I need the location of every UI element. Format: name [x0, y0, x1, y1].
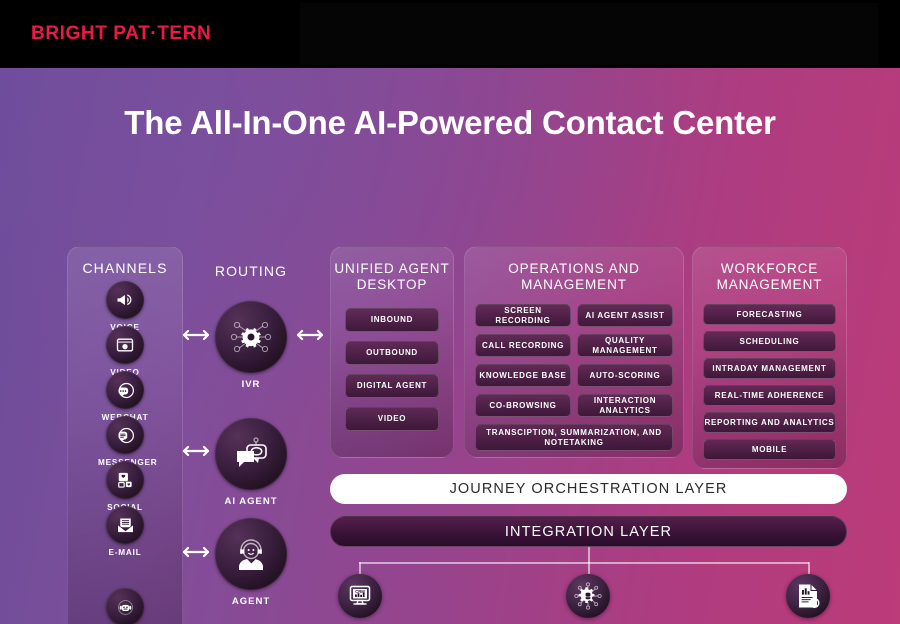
integration-layer-bar[interactable]: INTEGRATION LAYER	[330, 516, 847, 547]
routing-title: ROUTING	[190, 263, 312, 279]
wfm-title: WORKFORCE MANAGEMENT	[693, 247, 846, 292]
channel-item-social[interactable]: SOCIAL	[98, 461, 152, 512]
gradient-stage: The All-In-One AI-Powered Contact Center…	[0, 68, 900, 624]
header-right-panel	[300, 3, 878, 65]
ops-item-transcription[interactable]: TRANSCIPTION, SUMMARIZATION, AND NOTETAK…	[475, 424, 673, 451]
ops-item-grid: SCREEN RECORDING AI AGENT ASSIST CALL RE…	[465, 292, 683, 451]
journey-orchestration-layer-bar[interactable]: JOURNEY ORCHESTRATION LAYER	[330, 474, 847, 504]
gear-network-icon	[215, 301, 287, 373]
custom-data-document-icon	[786, 574, 830, 618]
integration-item-custom-data[interactable]: CUSTOM DATA	[753, 574, 863, 624]
uad-item[interactable]: VIDEO	[345, 407, 439, 431]
wfm-item[interactable]: MOBILE	[703, 439, 836, 460]
top-header-bar: BRIGHT PAT·TERN	[0, 0, 900, 68]
robot-headset-icon	[106, 588, 144, 624]
uad-item[interactable]: OUTBOUND	[345, 341, 439, 365]
panel-unified-agent-desktop: UNIFIED AGENT DESKTOP INBOUND OUTBOUND D…	[330, 246, 454, 458]
wfm-item[interactable]: REPORTING AND ANALYTICS	[703, 412, 836, 433]
integration-item-ucaas[interactable]: UCaaS	[533, 574, 643, 624]
arrow-channels-to-agent	[183, 545, 209, 559]
webcam-icon	[106, 326, 144, 364]
ops-title: OPERATIONS AND MANAGEMENT	[465, 247, 683, 292]
routing-item-ai-agent[interactable]: AI AGENT	[215, 418, 287, 507]
ops-item[interactable]: QUALITY MANAGEMENT	[577, 334, 673, 357]
ops-item[interactable]: AI AGENT ASSIST	[577, 304, 673, 327]
routing-item-agent[interactable]: AGENT	[215, 518, 287, 607]
envelope-icon	[106, 506, 144, 544]
connector-vertical-center-top	[588, 547, 590, 563]
ops-item[interactable]: INTERACTION ANALYTICS	[577, 394, 673, 417]
channel-item-ai-agent[interactable]: AI AGENT	[98, 588, 152, 624]
crm-monitor-icon: CRM	[338, 574, 382, 618]
panel-workforce-management: WORKFORCE MANAGEMENT FORECASTING SCHEDUL…	[692, 246, 847, 469]
channels-title: CHANNELS	[68, 247, 182, 277]
infographic-page: BRIGHT PAT·TERN The All-In-One AI-Powere…	[0, 0, 900, 624]
routing-label: IVR	[215, 379, 287, 390]
channel-item-email[interactable]: E-MAIL	[98, 506, 152, 557]
channel-item-webchat[interactable]: WEBCHAT	[98, 371, 152, 422]
chat-bubble-dots-icon	[106, 371, 144, 409]
routing-label: AGENT	[215, 596, 287, 607]
wfm-item-list: FORECASTING SCHEDULING INTRADAY MANAGEME…	[693, 292, 846, 460]
uad-item-list: INBOUND OUTBOUND DIGITAL AGENT VIDEO	[331, 292, 453, 431]
bot-chat-icon	[215, 418, 287, 490]
uad-title: UNIFIED AGENT DESKTOP	[331, 247, 453, 292]
routing-item-ivr[interactable]: IVR	[215, 301, 287, 390]
chat-bubble-lines-icon	[106, 416, 144, 454]
wfm-item[interactable]: REAL-TIME ADHERENCE	[703, 385, 836, 406]
brand-logo: BRIGHT PAT·TERN	[31, 23, 211, 45]
connector-horizontal	[359, 562, 809, 564]
channel-item-messenger[interactable]: MESSENGER	[98, 416, 152, 467]
ops-item[interactable]: AUTO-SCORING	[577, 364, 673, 387]
integration-item-crm[interactable]: CRM CRM	[305, 574, 415, 624]
ucaas-network-icon	[566, 574, 610, 618]
channel-label: E-MAIL	[98, 548, 152, 557]
ops-item[interactable]: CALL RECORDING	[475, 334, 571, 357]
megaphone-icon	[106, 281, 144, 319]
social-hearts-icon	[106, 461, 144, 499]
channel-item-video[interactable]: VIDEO	[98, 326, 152, 377]
uad-item[interactable]: DIGITAL AGENT	[345, 374, 439, 398]
arrow-channels-to-ivr	[183, 328, 209, 342]
ops-item[interactable]: KNOWLEDGE BASE	[475, 364, 571, 387]
routing-label: AI AGENT	[215, 496, 287, 507]
ops-item[interactable]: CO-BROWSING	[475, 394, 571, 417]
agent-person-icon	[215, 518, 287, 590]
uad-item[interactable]: INBOUND	[345, 308, 439, 332]
arrow-channels-to-ai-agent	[183, 444, 209, 458]
wfm-item[interactable]: FORECASTING	[703, 304, 836, 325]
integration-icons-row: CRM CRM	[330, 570, 847, 624]
ops-item[interactable]: SCREEN RECORDING	[475, 304, 571, 327]
wfm-item[interactable]: INTRADAY MANAGEMENT	[703, 358, 836, 379]
channel-item-voice[interactable]: VOICE	[98, 281, 152, 332]
panel-operations-management: OPERATIONS AND MANAGEMENT SCREEN RECORDI…	[464, 246, 684, 458]
page-title: The All-In-One AI-Powered Contact Center	[0, 104, 900, 142]
wfm-item[interactable]: SCHEDULING	[703, 331, 836, 352]
arrow-ivr-to-desktop	[297, 328, 323, 342]
